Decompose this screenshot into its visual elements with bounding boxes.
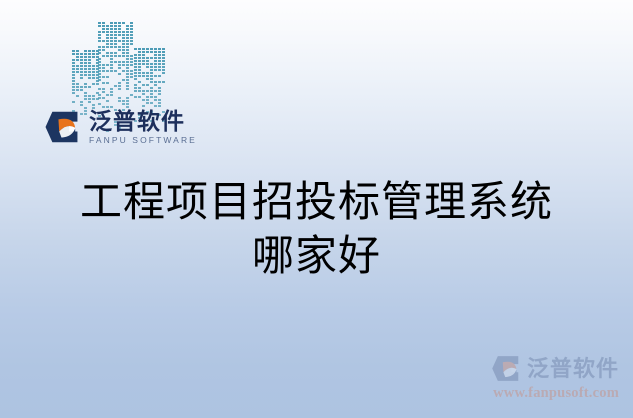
watermark-url: www.fanpusoft.com: [491, 385, 619, 402]
watermark: 泛普软件 www.fanpusoft.com: [491, 353, 619, 402]
poster-canvas: 泛普软件 FANPU SOFTWARE 工程项目招投标管理系统 哪家好 泛普软件…: [0, 0, 633, 418]
watermark-logo-lockup: 泛普软件: [491, 353, 619, 384]
fanpu-logo-mark: [44, 108, 82, 146]
page-title-line-1: 工程项目招投标管理系统: [0, 176, 633, 230]
fanpu-logo-mark-watermark: [491, 353, 522, 384]
brand-name-cn: 泛普软件: [89, 110, 197, 133]
watermark-name-cn: 泛普软件: [527, 358, 619, 380]
brand-name-en: FANPU SOFTWARE: [89, 136, 197, 145]
page-title: 工程项目招投标管理系统 哪家好: [0, 176, 633, 284]
pixel-building-skyline: [68, 22, 164, 106]
brand-logo-lockup: 泛普软件 FANPU SOFTWARE: [44, 108, 197, 146]
page-title-line-2: 哪家好: [0, 230, 633, 284]
brand-text-block: 泛普软件 FANPU SOFTWARE: [89, 110, 197, 145]
